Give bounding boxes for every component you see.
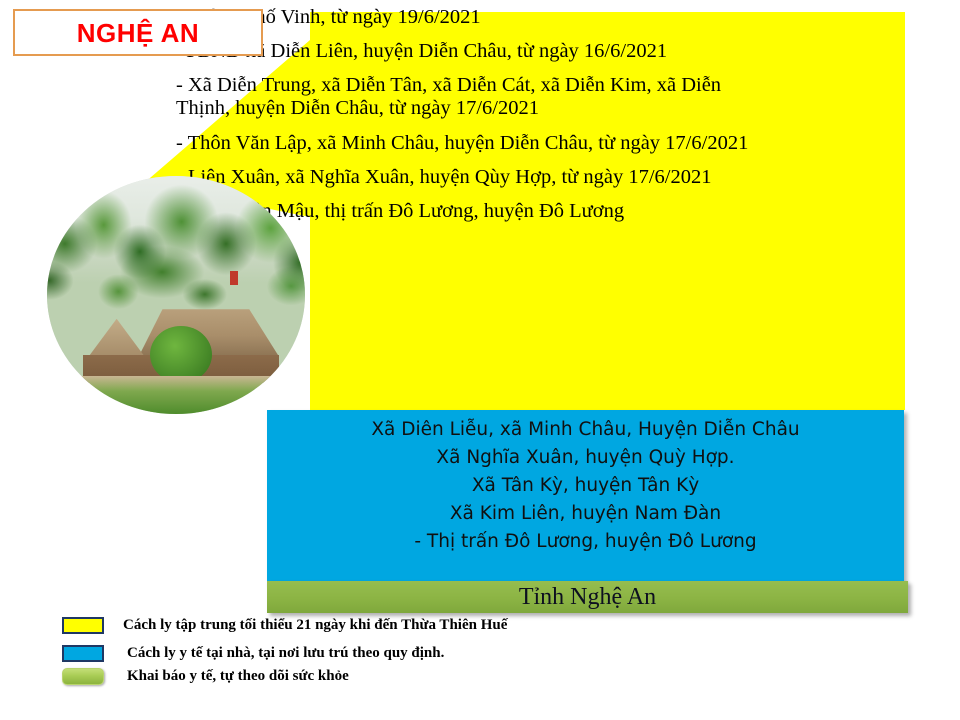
yellow-line-4: - Thôn Văn Lập, xã Minh Châu, huyện Diễn… bbox=[176, 132, 752, 155]
blue-line-1: Xã Diên Liễu, xã Minh Châu, Huyện Diễn C… bbox=[267, 416, 904, 444]
green-panel: Tỉnh Nghệ An bbox=[267, 581, 908, 613]
green-panel-label: Tỉnh Nghệ An bbox=[519, 585, 656, 609]
legend-label-yellow: Cách ly tập trung tối thiểu 21 ngày khi … bbox=[123, 618, 507, 633]
photo-flag bbox=[230, 271, 238, 285]
slide-canvas: - Thành phố Vinh, từ ngày 19/6/2021 -UBN… bbox=[0, 0, 960, 720]
legend-item-quarantine-home: Cách ly y tế tại nhà, tại nơi lưu trú th… bbox=[62, 645, 444, 662]
page-title: NGHỆ AN bbox=[77, 20, 199, 46]
photo-bush bbox=[150, 326, 212, 383]
legend-item-quarantine-centralized: Cách ly tập trung tối thiểu 21 ngày khi … bbox=[62, 617, 507, 634]
blue-line-4: Xã Kim Liên, huyện Nam Đàn bbox=[267, 500, 904, 528]
legend-swatch-yellow bbox=[62, 617, 104, 634]
blue-panel: Xã Diên Liễu, xã Minh Châu, Huyện Diễn C… bbox=[267, 410, 904, 584]
legend-swatch-blue bbox=[62, 645, 104, 662]
blue-line-2: Xã Nghĩa Xuân, huyện Quỳ Hợp. bbox=[267, 444, 904, 472]
blue-line-3: Xã Tân Kỳ, huyện Tân Kỳ bbox=[267, 472, 904, 500]
legend-item-health-declaration: Khai báo y tế, tự theo dõi sức khỏe bbox=[62, 668, 349, 685]
province-title-box: NGHỆ AN bbox=[13, 9, 263, 56]
legend-label-green: Khai báo y tế, tự theo dõi sức khỏe bbox=[127, 669, 349, 684]
yellow-line-3: - Xã Diễn Trung, xã Diễn Tân, xã Diễn Cá… bbox=[176, 74, 752, 120]
legend-label-blue: Cách ly y tế tại nhà, tại nơi lưu trú th… bbox=[127, 646, 444, 661]
blue-line-5: - Thị trấn Đô Lương, huyện Đô Lương bbox=[267, 528, 904, 556]
village-house-photo bbox=[47, 176, 305, 414]
photo-ground bbox=[47, 376, 305, 414]
legend-swatch-green bbox=[62, 668, 104, 685]
